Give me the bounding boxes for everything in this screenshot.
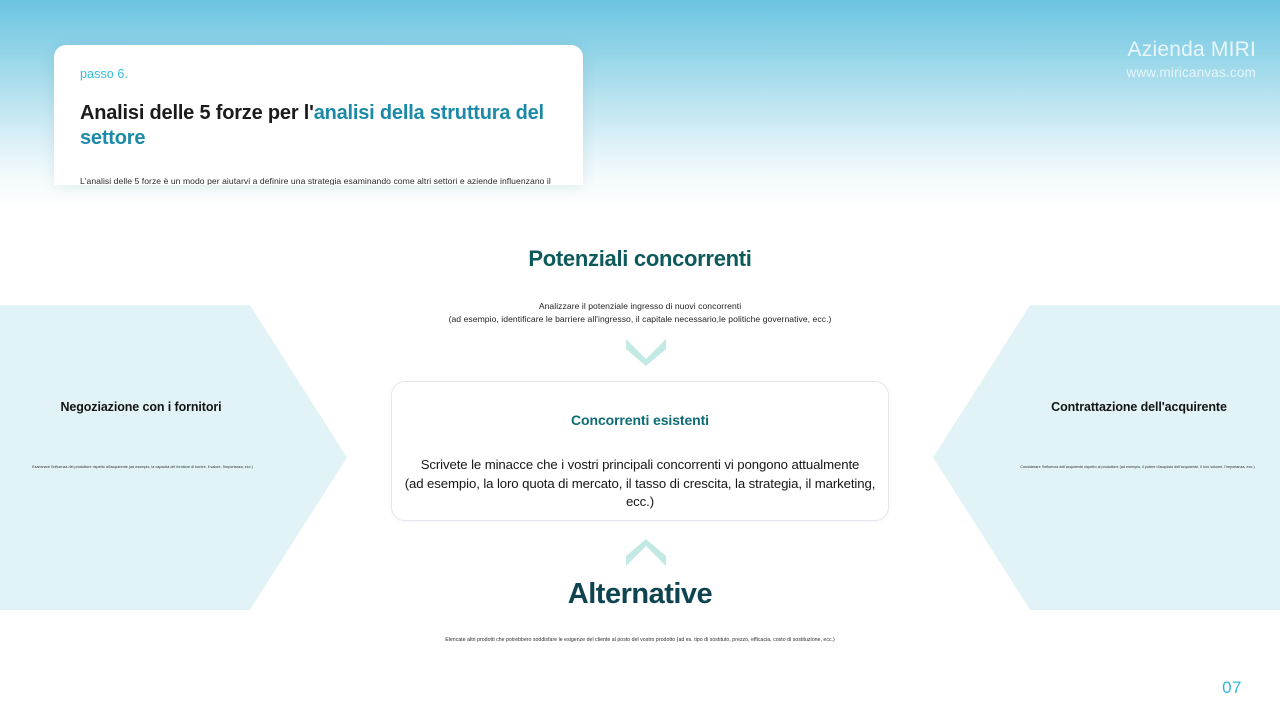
force-desc-substitutes: Elencate altri prodotti che potrebbero s… [0,637,1280,643]
force-section-new-entrants: Potenziali concorrenti Analizzare il pot… [0,246,1280,327]
force-title-existing-rivals: Concorrenti esistenti [392,412,888,428]
force-section-substitutes: Alternative Elencate altri prodotti che … [0,578,1280,643]
force-desc-new-entrants-line2: (ad esempio, identificare le barriere al… [0,313,1280,326]
force-panel-suppliers: Negoziazione con i fornitori Esaminare l… [0,305,347,610]
page-title-plain: Analisi delle 5 forze per l' [80,102,314,124]
brand-watermark: Azienda MIRI www.miricanvas.com [1126,38,1256,81]
force-desc-existing-rivals-line1: Scrivete le minacce che i vostri princip… [392,456,888,475]
page-number: 07 [1222,678,1242,698]
page-title: Analisi delle 5 forze per l'analisi dell… [80,101,557,151]
force-title-new-entrants: Potenziali concorrenti [0,246,1280,272]
force-desc-new-entrants-line1: Analizzare il potenziale ingresso di nuo… [0,300,1280,313]
force-title-buyers: Contrattazione dell'acquirente [933,400,1280,414]
chevron-up-icon [623,539,669,569]
header-subtitle: L'analisi delle 5 forze è un modo per ai… [80,175,557,185]
force-card-existing-rivals: Concorrenti esistenti Scrivete le minacc… [391,381,889,521]
force-title-substitutes: Alternative [0,578,1280,611]
brand-url: www.miricanvas.com [1126,65,1256,81]
force-desc-new-entrants: Analizzare il potenziale ingresso di nuo… [0,300,1280,327]
step-label: passo 6. [80,67,557,81]
force-desc-buyers: Considerare l'influenza dell'acquirente … [933,465,1280,471]
force-panel-buyers: Contrattazione dell'acquirente Considera… [933,305,1280,610]
chevron-down-icon [623,336,669,366]
force-desc-existing-rivals-line2: (ad esempio, la loro quota di mercato, i… [392,475,888,512]
brand-name: Azienda MIRI [1126,38,1256,62]
force-desc-suppliers: Esaminare l'influenza del produttore ris… [0,465,347,471]
force-title-suppliers: Negoziazione con i fornitori [0,400,347,414]
force-desc-existing-rivals: Scrivete le minacce che i vostri princip… [392,456,888,512]
header-card: passo 6. Analisi delle 5 forze per l'ana… [54,45,583,185]
